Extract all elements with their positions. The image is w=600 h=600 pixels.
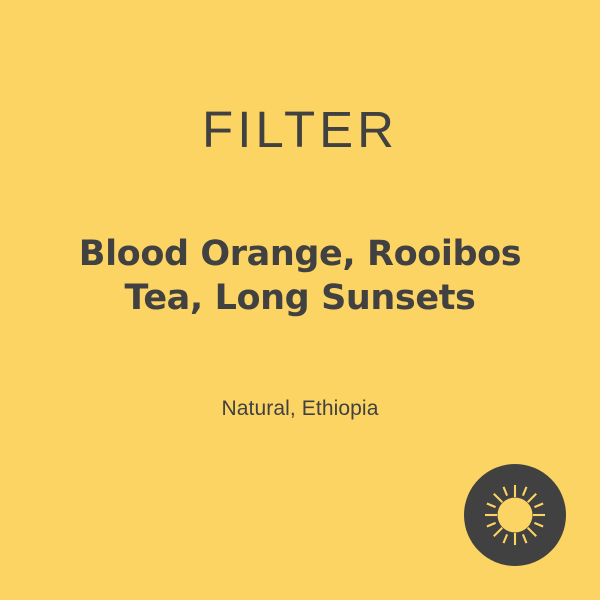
tasting-notes-line-2: Tea, Long Sunsets [30, 276, 570, 320]
origin-subtitle: Natural, Ethiopia [0, 396, 600, 421]
coffee-label-card: FILTER Blood Orange, Rooibos Tea, Long S… [0, 0, 600, 600]
roast-level-badge [464, 464, 566, 566]
tasting-notes-heading: Blood Orange, Rooibos Tea, Long Sunsets [30, 232, 570, 320]
tasting-notes-line-1: Blood Orange, Rooibos [30, 232, 570, 276]
sun-icon [473, 473, 557, 557]
category-title: FILTER [0, 104, 600, 155]
